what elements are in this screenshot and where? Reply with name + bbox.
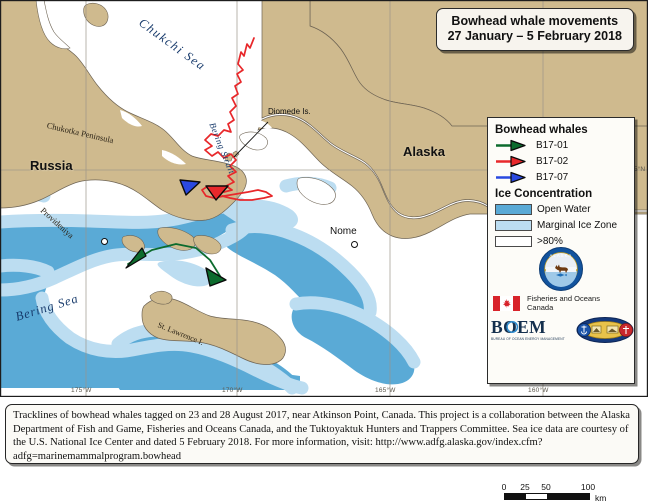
legend-item-b17-02[interactable]: B17-02 — [495, 154, 628, 169]
lon-label-160w: 160°W — [528, 387, 549, 394]
dfo-text-line1: Fisheries and Oceans — [527, 294, 600, 303]
logo-group: ALASKA Fisheries and Oceans Canada BO — [488, 246, 634, 344]
figure-caption-text: Tracklines of bowhead whales tagged on 2… — [13, 409, 631, 464]
scale-bar-ticks: 0 25 50 100 — [504, 482, 616, 493]
legend-heading-ice-concentration: Ice Concentration — [495, 188, 628, 200]
boem-and-htc-logos: BOEM BUREAU OF OCEAN ENERGY MANAGEMENT — [490, 316, 634, 344]
swatch-open-water — [495, 204, 532, 215]
legend-item-marginal-ice-zone[interactable]: Marginal Ice Zone — [495, 218, 628, 233]
seal-ring-text: ALASKA — [550, 253, 573, 258]
dfo-canada-logo: Fisheries and Oceans Canada — [493, 294, 634, 313]
legend-label-b17-07: B17-07 — [536, 172, 568, 183]
track-key-icon — [495, 139, 531, 152]
dfo-text-line2: Canada — [527, 303, 600, 312]
lon-label-170w: 170°W — [222, 387, 243, 394]
map-title-line2: 27 January – 5 February 2018 — [448, 29, 622, 44]
legend-item-b17-01[interactable]: B17-01 — [495, 138, 628, 153]
legend-heading-whales: Bowhead whales — [495, 124, 628, 136]
scale-tick-0: 0 — [502, 482, 507, 492]
map-figure: Russia Alaska Chukotka Peninsula Provide… — [0, 0, 648, 468]
boem-wordmark: BOEM — [491, 317, 546, 337]
legend-label-b17-01: B17-01 — [536, 140, 568, 151]
scale-tick-25: 25 — [520, 482, 529, 492]
city-dot-nome — [351, 241, 358, 248]
legend-label-b17-02: B17-02 — [536, 156, 568, 167]
lon-label-165w: 165°W — [375, 387, 396, 394]
city-dot-provideniya — [101, 238, 108, 245]
track-key-icon — [495, 155, 531, 168]
scale-bar-unit: km — [595, 493, 606, 503]
figure-caption-box: Tracklines of bowhead whales tagged on 2… — [5, 404, 639, 464]
legend-item-open-water[interactable]: Open Water — [495, 202, 628, 217]
boem-subtext: BUREAU OF OCEAN ENERGY MANAGEMENT — [491, 337, 565, 341]
scale-tick-50: 50 — [541, 482, 550, 492]
legend-item-b17-07[interactable]: B17-07 — [495, 170, 628, 185]
canada-flag-icon — [493, 296, 520, 311]
legend-panel: Bowhead whales B17-01 B17-02 B17-07 Ice … — [487, 117, 635, 384]
lon-label-175w: 175°W — [71, 387, 92, 394]
scale-tick-100: 100 — [581, 482, 595, 492]
map-title-box: Bowhead whale movements 27 January – 5 F… — [436, 8, 634, 51]
swatch-marginal-ice-zone — [495, 220, 532, 231]
map-title-line1: Bowhead whale movements — [448, 14, 622, 29]
legend-label-marginal-ice-zone: Marginal Ice Zone — [537, 220, 617, 231]
tuktoyaktuk-htc-logo-icon — [576, 316, 634, 344]
scale-bar: 0 25 50 100 km — [504, 482, 616, 500]
dfo-canada-text: Fisheries and Oceans Canada — [527, 294, 600, 313]
legend-label-open-water: Open Water — [537, 204, 591, 215]
track-key-icon — [495, 171, 531, 184]
alaska-fish-and-game-seal-icon: ALASKA — [538, 246, 584, 292]
scale-bar-graphic: km — [504, 493, 590, 500]
boem-logo-icon: BOEM BUREAU OF OCEAN ENERGY MANAGEMENT — [490, 316, 568, 344]
